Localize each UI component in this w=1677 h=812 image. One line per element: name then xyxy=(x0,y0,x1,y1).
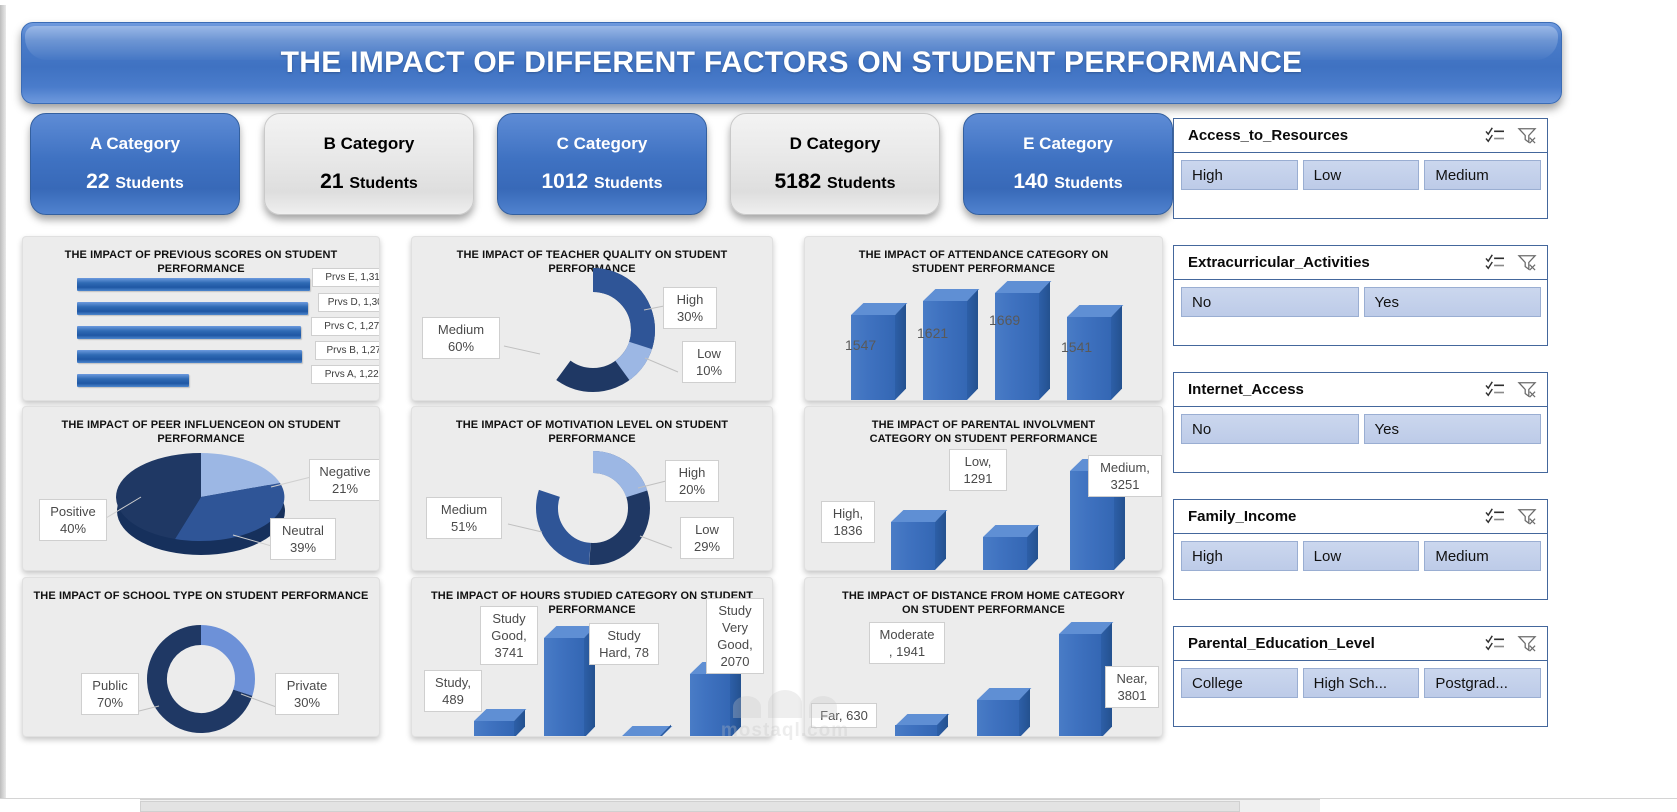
chart-panel-peer-influence[interactable]: THE IMPACT OF PEER INFLUENCEON ON STUDEN… xyxy=(22,406,380,571)
data-label-moderate: Moderate , 1941 xyxy=(869,622,945,664)
multi-select-icon[interactable] xyxy=(1485,507,1505,525)
data-label-positive: Positive 40% xyxy=(39,499,107,541)
slicer-header: Internet_Access xyxy=(1174,373,1547,407)
chart-title: THE IMPACT OF DISTANCE FROM HOME CATEGOR… xyxy=(841,589,1126,617)
kpi-value: 140 Students xyxy=(1013,170,1122,194)
slicer-item-yes[interactable]: Yes xyxy=(1364,287,1542,317)
data-label-prvs-a: Prvs A, 1,221 xyxy=(311,365,380,384)
kpi-value: 21 Students xyxy=(320,170,418,194)
data-label-prvs-d: Prvs D, 1,303 xyxy=(318,293,380,312)
data-label-medium: Medium 60% xyxy=(422,317,500,359)
clear-filter-icon[interactable] xyxy=(1517,126,1537,144)
kpi-title: A Category xyxy=(90,134,180,154)
data-label-prvs-e: Prvs E, 1,311 xyxy=(312,268,380,287)
data-label-low: Low 10% xyxy=(682,341,736,383)
data-label-prvs-b: Prvs B, 1,273 xyxy=(315,341,380,360)
data-label-parental-low: Low, 1291 xyxy=(949,449,1007,491)
data-label-negative: Negative 21% xyxy=(309,459,380,501)
data-label-study: Study, 489 xyxy=(424,670,482,712)
slicer-item-high[interactable]: High xyxy=(1181,160,1298,190)
slicer-items: High Low Medium xyxy=(1174,153,1547,197)
dashboard-title-banner: THE IMPACT OF DIFFERENT FACTORS ON STUDE… xyxy=(21,22,1562,104)
kpi-card-row: A Category 22 Students B Category 21 Stu… xyxy=(16,113,1166,223)
slicer-header-icons xyxy=(1485,634,1537,652)
data-label-study-good: Study Good, 3741 xyxy=(480,606,538,665)
horizontal-scrollbar-thumb[interactable] xyxy=(140,801,1240,812)
chart-title: THE IMPACT OF PARENTAL INVOLVMENT CATEGO… xyxy=(841,418,1126,446)
slicer-item-low[interactable]: Low xyxy=(1303,160,1420,190)
bar-study-hard xyxy=(620,726,660,737)
data-label-high: High 30% xyxy=(663,287,717,329)
slicer-item-yes[interactable]: Yes xyxy=(1364,414,1542,444)
chart-panel-hours-studied[interactable]: THE IMPACT OF HOURS STUDIED CATEGORY ON … xyxy=(411,577,773,737)
clear-filter-icon[interactable] xyxy=(1517,634,1537,652)
slicer-items: No Yes xyxy=(1174,407,1547,451)
slicer-extracurricular-activities[interactable]: Extracurricular_Activities No Yes xyxy=(1173,245,1548,346)
slicer-items: College High Sch... Postgrad... xyxy=(1174,661,1547,705)
multi-select-icon[interactable] xyxy=(1485,380,1505,398)
chart-panel-motivation[interactable]: THE IMPACT OF MOTIVATION LEVEL ON STUDEN… xyxy=(411,406,773,571)
chart-panel-school-type[interactable]: THE IMPACT OF SCHOOL TYPE ON STUDENT PER… xyxy=(22,577,380,737)
slicer-item-no[interactable]: No xyxy=(1181,287,1359,317)
slicer-header: Family_Income xyxy=(1174,500,1547,534)
data-label-low: Low 29% xyxy=(680,517,734,559)
bar-far xyxy=(895,714,937,737)
slicer-item-college[interactable]: College xyxy=(1181,668,1298,698)
clear-filter-icon[interactable] xyxy=(1517,253,1537,271)
clear-filter-icon[interactable] xyxy=(1517,380,1537,398)
bar-prvs-d xyxy=(77,302,308,315)
slicer-title: Access_to_Resources xyxy=(1188,127,1348,144)
data-label-parental-medium: Medium, 3251 xyxy=(1088,455,1162,497)
data-label-far: Far, 630 xyxy=(811,703,877,728)
slicer-item-high-school[interactable]: High Sch... xyxy=(1303,668,1420,698)
multi-select-icon[interactable] xyxy=(1485,126,1505,144)
bar-parental-low xyxy=(983,525,1027,570)
bar-prvs-b xyxy=(77,350,302,363)
data-label-prvs-c: Prvs C, 1,270 xyxy=(311,317,380,336)
kpi-card-b[interactable]: B Category 21 Students xyxy=(264,113,474,215)
chart-panel-parental-involvement[interactable]: THE IMPACT OF PARENTAL INVOLVMENT CATEGO… xyxy=(804,406,1163,571)
kpi-value: 22 Students xyxy=(86,170,184,194)
page-left-edge xyxy=(0,0,6,812)
slicer-internet-access[interactable]: Internet_Access No Yes xyxy=(1173,372,1548,473)
bar-prvs-e xyxy=(77,278,310,291)
bar-prvs-c xyxy=(77,326,301,339)
slicer-header: Parental_Education_Level xyxy=(1174,627,1547,661)
bar-study xyxy=(474,709,514,737)
chart-panel-teacher-quality[interactable]: THE IMPACT OF TEACHER QUALITY ON STUDENT… xyxy=(411,236,773,401)
slicer-header: Extracurricular_Activities xyxy=(1174,246,1547,280)
slicer-header-icons xyxy=(1485,507,1537,525)
clear-filter-icon[interactable] xyxy=(1517,507,1537,525)
bar-study-good xyxy=(544,626,584,737)
bar-attendance-3 xyxy=(995,281,1039,400)
kpi-card-c[interactable]: C Category 1012 Students xyxy=(497,113,707,215)
kpi-card-d[interactable]: D Category 5182 Students xyxy=(730,113,940,215)
slicer-item-no[interactable]: No xyxy=(1181,414,1359,444)
page-top-edge xyxy=(0,0,1677,5)
slicer-item-high[interactable]: High xyxy=(1181,541,1298,571)
data-label-attendance-2: 1621 xyxy=(917,325,948,341)
kpi-title: E Category xyxy=(1023,134,1113,154)
kpi-card-a[interactable]: A Category 22 Students xyxy=(30,113,240,215)
slicer-title: Internet_Access xyxy=(1188,381,1304,398)
data-label-attendance-4: 1541 xyxy=(1061,339,1092,355)
chart-title: THE IMPACT OF ATTENDANCE CATEGORY ON STU… xyxy=(841,248,1126,276)
page-title: THE IMPACT OF DIFFERENT FACTORS ON STUDE… xyxy=(281,46,1303,80)
chart-panel-distance-from-home[interactable]: THE IMPACT OF DISTANCE FROM HOME CATEGOR… xyxy=(804,577,1163,737)
slicer-access-to-resources[interactable]: Access_to_Resources High Low Medium xyxy=(1173,118,1548,219)
slicer-header-icons xyxy=(1485,253,1537,271)
kpi-card-e[interactable]: E Category 140 Students xyxy=(963,113,1173,215)
slicer-item-medium[interactable]: Medium xyxy=(1424,541,1541,571)
chart-panel-attendance[interactable]: THE IMPACT OF ATTENDANCE CATEGORY ON STU… xyxy=(804,236,1163,401)
slicer-item-medium[interactable]: Medium xyxy=(1424,160,1541,190)
slicer-item-postgraduate[interactable]: Postgrad... xyxy=(1424,668,1541,698)
slicer-header: Access_to_Resources xyxy=(1174,119,1547,153)
kpi-value: 5182 Students xyxy=(774,170,895,194)
dashboard-root: THE IMPACT OF DIFFERENT FACTORS ON STUDE… xyxy=(0,0,1677,812)
slicer-title: Extracurricular_Activities xyxy=(1188,254,1370,271)
bar-parental-high xyxy=(891,510,935,570)
slicer-items: High Low Medium xyxy=(1174,534,1547,578)
bar-attendance-2 xyxy=(923,289,967,400)
data-label-high: High 20% xyxy=(665,460,719,502)
slicer-parental-education-level[interactable]: Parental_Education_Level College High Sc… xyxy=(1173,626,1548,727)
multi-select-icon[interactable] xyxy=(1485,253,1505,271)
chart-title: THE IMPACT OF SCHOOL TYPE ON STUDENT PER… xyxy=(31,589,371,603)
bar-near xyxy=(1059,622,1101,737)
slicer-item-low[interactable]: Low xyxy=(1303,541,1420,571)
data-label-public: Public 70% xyxy=(81,673,139,715)
data-label-parental-high: High, 1836 xyxy=(821,501,875,543)
slicer-header-icons xyxy=(1485,126,1537,144)
data-label-attendance-1: 1547 xyxy=(845,337,876,353)
slicer-items: No Yes xyxy=(1174,280,1547,324)
bar-moderate xyxy=(977,688,1019,737)
multi-select-icon[interactable] xyxy=(1485,634,1505,652)
data-label-attendance-3: 1669 xyxy=(989,312,1020,328)
donut-school-type xyxy=(23,606,380,736)
data-label-private: Private 30% xyxy=(275,673,339,715)
slicer-title: Family_Income xyxy=(1188,508,1296,525)
kpi-title: C Category xyxy=(557,134,648,154)
bar-prvs-a xyxy=(77,374,189,387)
kpi-title: B Category xyxy=(324,134,415,154)
slicer-header-icons xyxy=(1485,380,1537,398)
data-label-study-very-good: Study Very Good, 2070 xyxy=(706,598,764,674)
kpi-value: 1012 Students xyxy=(541,170,662,194)
slicer-family-income[interactable]: Family_Income High Low Medium xyxy=(1173,499,1548,600)
slicer-title: Parental_Education_Level xyxy=(1188,635,1375,652)
data-label-medium: Medium 51% xyxy=(426,497,502,539)
chart-panel-previous-scores[interactable]: THE IMPACT OF PREVIOUS SCORES ON STUDENT… xyxy=(22,236,380,401)
data-label-study-hard: Study Hard, 78 xyxy=(589,623,659,665)
data-label-near: Near, 3801 xyxy=(1105,666,1159,708)
horizontal-scrollbar[interactable] xyxy=(140,799,1320,812)
kpi-title: D Category xyxy=(790,134,881,154)
data-label-neutral: Neutral 39% xyxy=(270,518,336,560)
